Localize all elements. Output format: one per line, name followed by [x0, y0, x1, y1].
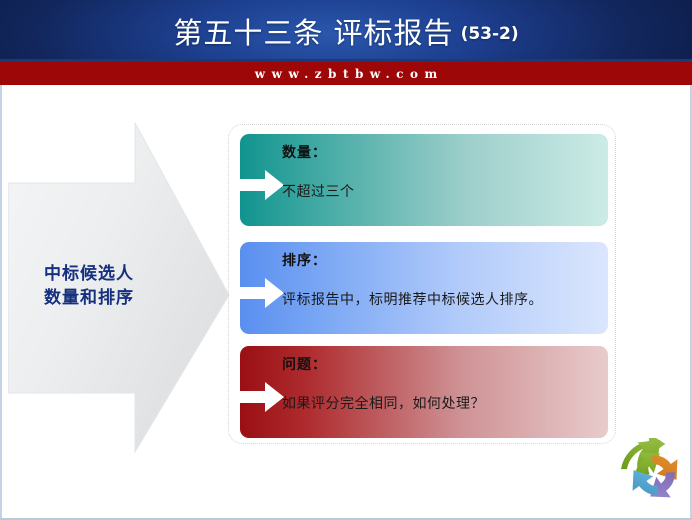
info-card-body: 评标报告中，标明推荐中标候选人排序。 [282, 289, 543, 309]
right-arrow-icon [237, 382, 285, 412]
process-arrow-label: 中标候选人 数量和排序 [10, 262, 168, 310]
info-card-ranking[interactable]: 排序： 评标报告中，标明推荐中标候选人排序。 [240, 242, 608, 334]
right-arrow-icon [237, 170, 285, 200]
right-arrow-icon [237, 278, 285, 308]
page-title-main: 第五十三条 评标报告 [173, 10, 453, 52]
slide-canvas: 第五十三条 评标报告(53-2) www.zbtbw.com 中标候选人 数量和… [0, 0, 692, 520]
info-card-heading: 排序： [282, 250, 327, 270]
process-arrow-label-line2: 数量和排序 [10, 286, 168, 310]
info-card-heading: 问题： [282, 354, 327, 374]
page-title: 第五十三条 评标报告(53-2) [0, 0, 692, 62]
page-title-code: (53-2) [461, 24, 519, 44]
info-card-question[interactable]: 问题： 如果评分完全相同，如何处理？ [240, 346, 608, 438]
info-card-body: 如果评分完全相同，如何处理？ [282, 393, 485, 413]
info-card-body: 不超过三个 [282, 181, 355, 201]
recycle-cycle-logo [618, 438, 692, 512]
info-card-heading: 数量： [282, 142, 327, 162]
info-card-quantity[interactable]: 数量： 不超过三个 [240, 134, 608, 226]
url-band: www.zbtbw.com [0, 62, 692, 85]
process-arrow-label-line1: 中标候选人 [10, 262, 168, 286]
website-url: www.zbtbw.com [248, 67, 443, 81]
